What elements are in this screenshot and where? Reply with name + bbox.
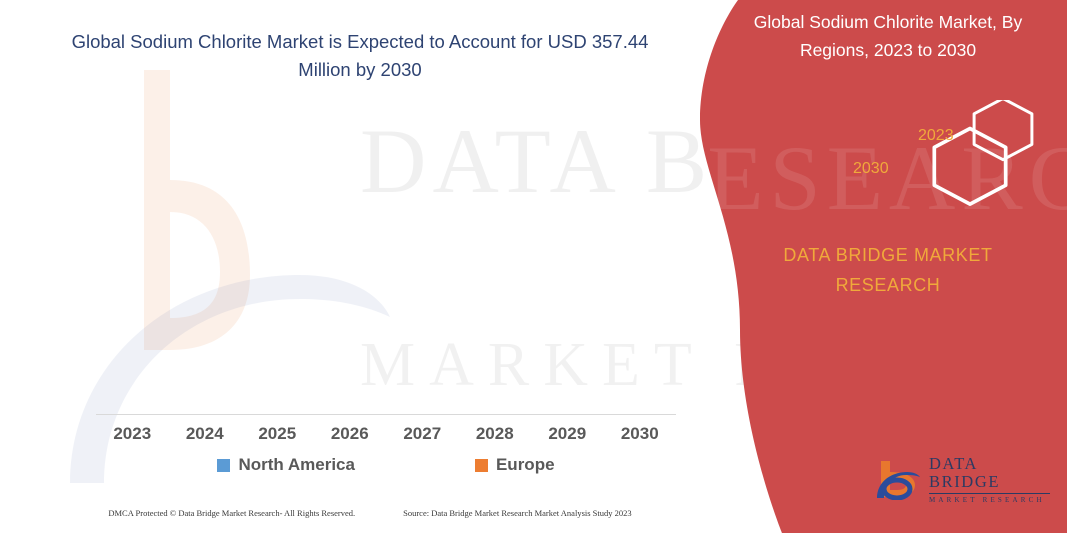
x-axis-label: 2030 bbox=[604, 424, 677, 444]
panel-title: Global Sodium Chlorite Market, By Region… bbox=[718, 8, 1058, 64]
logo-main-text: DATA BRIDGE bbox=[929, 455, 1050, 491]
logo-b-mark-icon bbox=[875, 458, 921, 500]
bar-column bbox=[531, 120, 604, 414]
bar-column bbox=[386, 120, 459, 414]
x-axis-label: 2026 bbox=[314, 424, 387, 444]
x-axis-line bbox=[96, 414, 676, 415]
legend-swatch-icon bbox=[475, 459, 488, 472]
logo-wordmark: DATA BRIDGE MARKET RESEARCH bbox=[929, 455, 1050, 504]
x-axis-label: 2023 bbox=[96, 424, 169, 444]
legend-item[interactable]: North America bbox=[217, 455, 355, 475]
footer: DMCA Protected © Data Bridge Market Rese… bbox=[0, 508, 740, 518]
x-axis-labels: 20232024202520262027202820292030 bbox=[96, 424, 676, 444]
panel-brand-line1: DATA BRIDGE MARKET bbox=[718, 240, 1058, 270]
panel-brand-text: DATA BRIDGE MARKET RESEARCH bbox=[718, 240, 1058, 300]
hexagon-label-2023: 2023 bbox=[918, 127, 954, 145]
company-logo: DATA BRIDGE MARKET RESEARCH bbox=[875, 455, 1050, 503]
x-axis-label: 2027 bbox=[386, 424, 459, 444]
x-axis-label: 2025 bbox=[241, 424, 314, 444]
infographic-root: DATA BRIDGE MARKET RESEARCH Global Sodiu… bbox=[0, 0, 1067, 533]
footer-source-text: Source: Data Bridge Market Research Mark… bbox=[403, 508, 632, 518]
chart-legend: North AmericaEurope bbox=[96, 455, 676, 475]
panel-brand-line2: RESEARCH bbox=[718, 270, 1058, 300]
bar-column bbox=[604, 120, 677, 414]
footer-dmca-text: DMCA Protected © Data Bridge Market Rese… bbox=[108, 508, 355, 518]
bar-column bbox=[169, 120, 242, 414]
legend-label: North America bbox=[238, 455, 355, 475]
hexagon-label-2030: 2030 bbox=[853, 160, 889, 178]
bar-column bbox=[241, 120, 314, 414]
logo-sub-text: MARKET RESEARCH bbox=[929, 496, 1050, 504]
legend-item[interactable]: Europe bbox=[475, 455, 555, 475]
chart-title: Global Sodium Chlorite Market is Expecte… bbox=[60, 28, 660, 84]
stacked-bar-chart bbox=[96, 120, 676, 414]
x-axis-label: 2029 bbox=[531, 424, 604, 444]
right-red-panel: RESEARCH Global Sodium Chlorite Market, … bbox=[700, 0, 1067, 533]
logo-divider bbox=[929, 493, 1050, 494]
hexagon-group: 2030 2023 bbox=[830, 100, 1060, 220]
x-axis-label: 2028 bbox=[459, 424, 532, 444]
bar-column bbox=[96, 120, 169, 414]
bar-column bbox=[459, 120, 532, 414]
x-axis-label: 2024 bbox=[169, 424, 242, 444]
bar-column bbox=[314, 120, 387, 414]
legend-swatch-icon bbox=[217, 459, 230, 472]
chart-panel: Global Sodium Chlorite Market is Expecte… bbox=[0, 0, 740, 533]
legend-label: Europe bbox=[496, 455, 555, 475]
